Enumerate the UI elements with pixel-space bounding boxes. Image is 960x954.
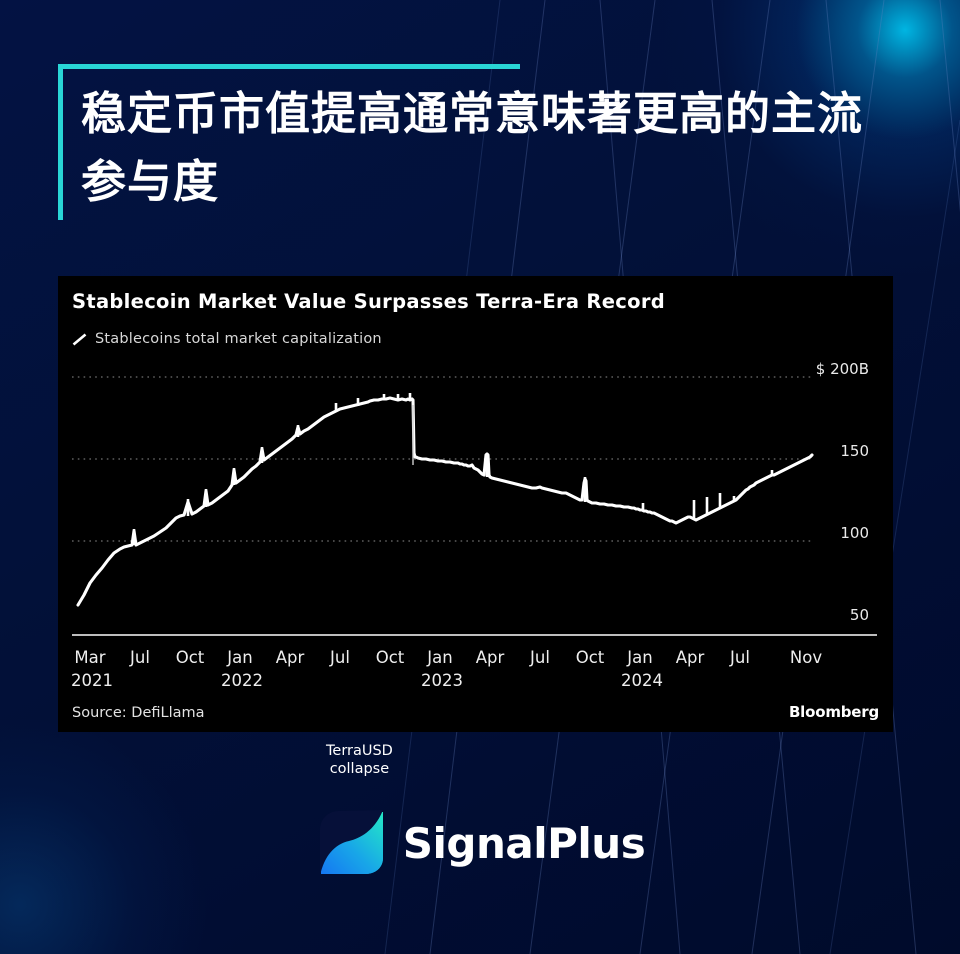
poster-canvas: 稳定币市值提高通常意味著更高的主流 参与度 Stablecoin Market … [0, 0, 960, 954]
x-tick-month: Jan [627, 648, 652, 667]
brand-logo: SignalPlus [0, 806, 960, 880]
page-title: 稳定币市值提高通常意味著更高的主流 参与度 [81, 80, 911, 216]
x-tick-month: Apr [276, 648, 305, 667]
x-tick-month: Apr [476, 648, 505, 667]
chart-legend: Stablecoins total market capitalization [72, 331, 382, 347]
chart-legend-label: Stablecoins total market capitalization [95, 331, 382, 347]
x-tick-year: 2024 [621, 671, 663, 690]
x-tick-month: Jul [130, 648, 150, 667]
x-tick-year: 2022 [221, 671, 263, 690]
chart-brand: Bloomberg [789, 703, 879, 721]
chart-plot-area: $ 200B 150 100 50 [72, 369, 877, 637]
x-tick-month: Apr [676, 648, 705, 667]
x-tick-month: Oct [176, 648, 205, 667]
chart-source: Source: DefiLlama [72, 705, 205, 721]
terra-collapse-annotation: TerraUSD collapse [326, 742, 393, 778]
diagonal-line-swatch-icon [72, 333, 87, 346]
x-tick-year: 2023 [421, 671, 463, 690]
x-tick-month: Oct [576, 648, 605, 667]
headline-accent-left [58, 64, 63, 220]
chart-svg [72, 369, 877, 637]
x-tick-month: Nov [790, 648, 822, 667]
x-tick-month: Jul [330, 648, 350, 667]
x-tick-month: Jul [530, 648, 550, 667]
y-tick-100: 100 [840, 524, 869, 542]
chart-title: Stablecoin Market Value Surpasses Terra-… [72, 290, 665, 313]
signalplus-wave-mark-icon [315, 806, 389, 880]
headline-accent-top [58, 64, 520, 69]
x-tick-year: 2021 [71, 671, 113, 690]
bloomberg-chart-card: Stablecoin Market Value Surpasses Terra-… [58, 276, 893, 732]
y-tick-50: 50 [850, 606, 869, 624]
x-tick-month: Jan [427, 648, 452, 667]
x-tick-month: Mar [74, 648, 105, 667]
y-tick-150: 150 [840, 442, 869, 460]
x-tick-month: Jan [227, 648, 252, 667]
x-axis-labels: Mar Jul Oct Jan Apr Jul Oct Jan Apr Jul … [72, 642, 877, 704]
x-tick-month: Oct [376, 648, 405, 667]
y-tick-200: $ 200B [816, 360, 869, 378]
x-tick-month: Jul [730, 648, 750, 667]
brand-logo-text: SignalPlus [403, 819, 645, 868]
